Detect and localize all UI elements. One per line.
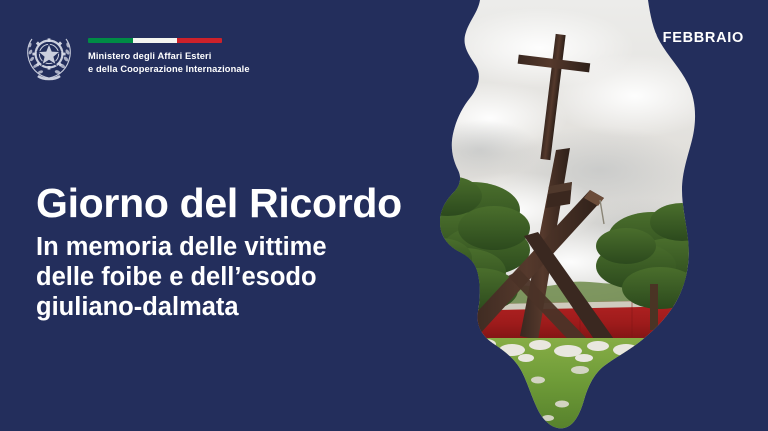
subtitle-line-1: In memoria delle vittime — [36, 232, 436, 262]
tricolor-band-white — [133, 38, 178, 43]
subtitle-line-2: delle foibe e dell’esodo — [36, 262, 436, 292]
italian-tricolor-bar — [88, 38, 222, 43]
headline-block: Giorno del Ricordo In memoria delle vitt… — [36, 180, 436, 322]
tricolor-band-green — [88, 38, 133, 43]
page-title: Giorno del Ricordo — [36, 180, 436, 226]
memorial-photo-illustration — [420, 0, 720, 431]
ministry-text-block: Ministero degli Affari Esteri e della Co… — [88, 28, 250, 75]
ministry-name-line-2: e della Cooperazione Internazionale — [88, 63, 250, 76]
tricolor-band-red — [177, 38, 222, 43]
commemorative-banner: Ministero degli Affari Esteri e della Co… — [0, 0, 768, 431]
page-subtitle: In memoria delle vittime delle foibe e d… — [36, 232, 436, 322]
ministry-name-line-1: Ministero degli Affari Esteri — [88, 50, 250, 63]
italian-republic-emblem-icon — [22, 28, 76, 84]
ministry-logo-lockup: Ministero degli Affari Esteri e della Co… — [22, 28, 250, 84]
ground-area — [420, 338, 720, 431]
memorial-photo-cutout — [420, 0, 720, 431]
subtitle-line-3: giuliano-dalmata — [36, 292, 436, 322]
